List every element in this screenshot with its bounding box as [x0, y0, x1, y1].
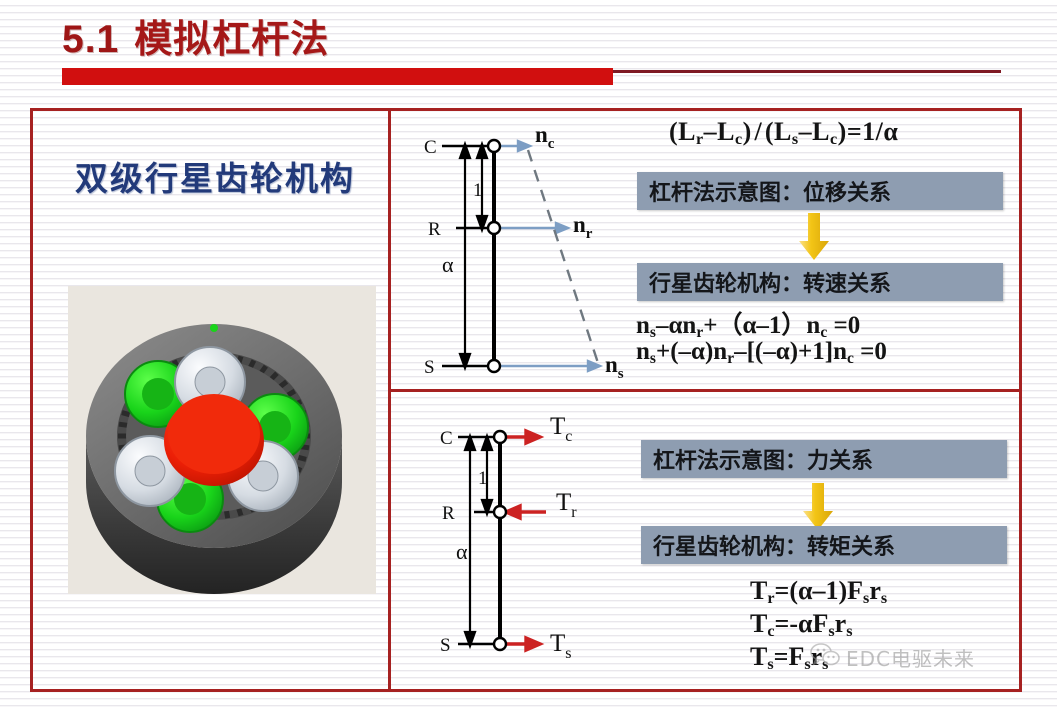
output-label-ns: ns [605, 352, 624, 382]
output-label-nc: nc [535, 122, 555, 152]
planetary-gear-image [68, 286, 376, 594]
vertical-divider [388, 108, 391, 692]
span-label-alpha: α [456, 539, 468, 564]
left-panel-heading: 双级行星齿轮机构 [55, 152, 375, 200]
equation-speed-2: ns+(–α)nr–[(–α)+1]nc =0 [636, 338, 887, 368]
node-label-c: C [424, 137, 437, 158]
output-label-ts: Ts [550, 630, 572, 662]
node-label-c: C [440, 428, 453, 449]
node-label-s: S [440, 635, 451, 656]
equation-torque-3: Ts=Fsrs [750, 642, 828, 674]
span-label-1: 1 [473, 180, 483, 201]
output-label-tc: Tc [550, 413, 572, 445]
label-box-lever-force: 杠杆法示意图：力关系 [641, 440, 1007, 478]
title-underline-thick [62, 68, 613, 85]
span-label-alpha: α [442, 252, 454, 277]
label-box-gear-torque: 行星齿轮机构：转矩关系 [641, 526, 1007, 564]
label-box-gear-speed: 行星齿轮机构：转速关系 [637, 263, 1003, 301]
output-label-tr: Tr [556, 489, 577, 521]
equation-torque-2: Tc=-αFsrs [750, 609, 852, 641]
page-title: 5.1 模拟杠杆法 [62, 8, 329, 63]
down-arrow-icon [797, 213, 831, 261]
title-label: 模拟杠杆法 [134, 8, 329, 63]
label-box-lever-displacement: 杠杆法示意图：位移关系 [637, 172, 1003, 210]
equation-displacement-ratio: (Lr–Lc) / (Ls–Lc)=1/α [669, 117, 898, 149]
horizontal-divider [388, 389, 1022, 392]
title-underline-thin [613, 70, 1001, 73]
lever-diagram-speed: C R S 1 α nc nr ns [398, 120, 633, 385]
node-label-s: S [424, 357, 435, 378]
slide-canvas: 5.1 模拟杠杆法 双级行星齿轮机构 [0, 0, 1057, 709]
span-label-1: 1 [478, 468, 488, 489]
equation-speed-1: ns–αnr+（α–1）nc =0 [636, 305, 860, 342]
node-label-r: R [442, 503, 455, 524]
title-number: 5.1 [62, 18, 119, 62]
down-arrow-icon [801, 483, 835, 531]
equation-torque-1: Tr=(α–1)Fsrs [750, 576, 887, 608]
node-label-r: R [428, 219, 441, 240]
output-label-nr: nr [573, 212, 593, 242]
lever-diagram-torque: C R S 1 α Tc Tr Ts [398, 404, 633, 686]
